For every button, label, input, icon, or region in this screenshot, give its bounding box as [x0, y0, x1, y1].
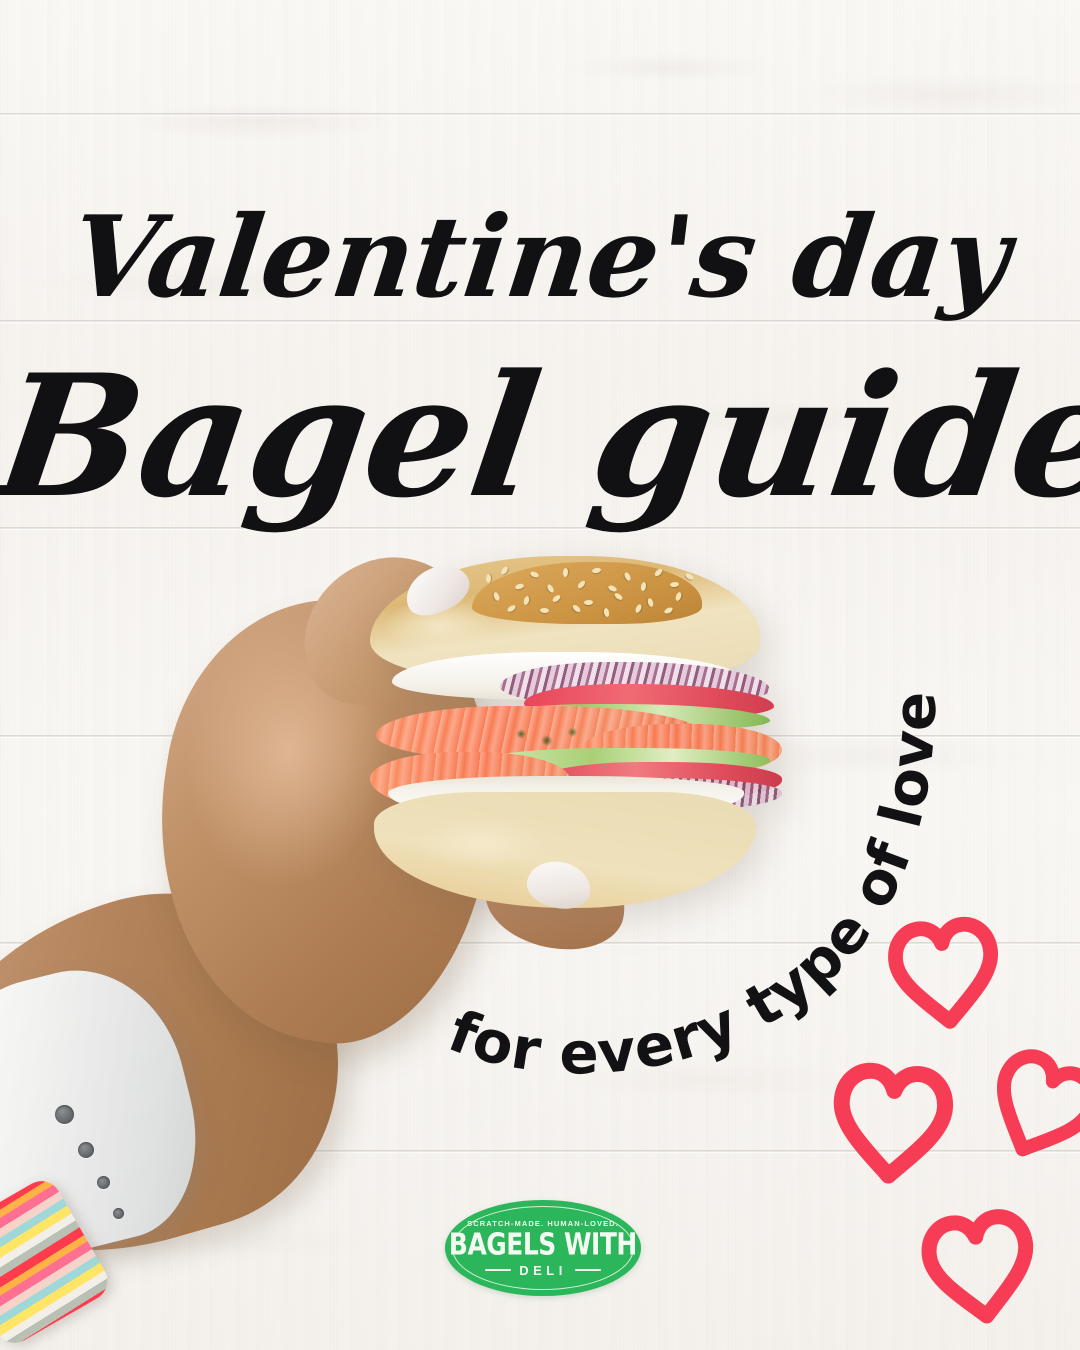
logo-rule-right	[575, 1269, 601, 1271]
logo-deli-row: DELI	[485, 1263, 601, 1278]
logo-tagline: SCRATCH-MADE. HUMAN-LOVED.	[467, 1219, 619, 1228]
logo-rule-left	[485, 1269, 511, 1271]
heart-1-icon	[880, 909, 1010, 1039]
headline-line-1: Valentine's day	[0, 202, 1080, 314]
watch-hole-2	[78, 1142, 94, 1158]
logo-brand-name: BAGELS WITH	[449, 1229, 637, 1260]
poster-canvas: Valentine's day Bagel guide for every ty…	[0, 0, 1080, 1350]
heart-2-icon	[824, 1056, 961, 1193]
logo-sub-label: DELI	[519, 1263, 567, 1278]
heart-4-icon	[912, 1200, 1048, 1336]
headline-line-2: Bagel guide	[0, 352, 1080, 520]
watch-hole-3	[97, 1176, 110, 1189]
watch-hole-1	[55, 1105, 74, 1124]
plank-seam-1	[0, 113, 1080, 115]
brand-logo: SCRATCH-MADE. HUMAN-LOVED. BAGELS WITH D…	[445, 1200, 641, 1296]
subtitle-text: for every type of love	[440, 690, 949, 1088]
watch-hole-4	[113, 1208, 124, 1219]
